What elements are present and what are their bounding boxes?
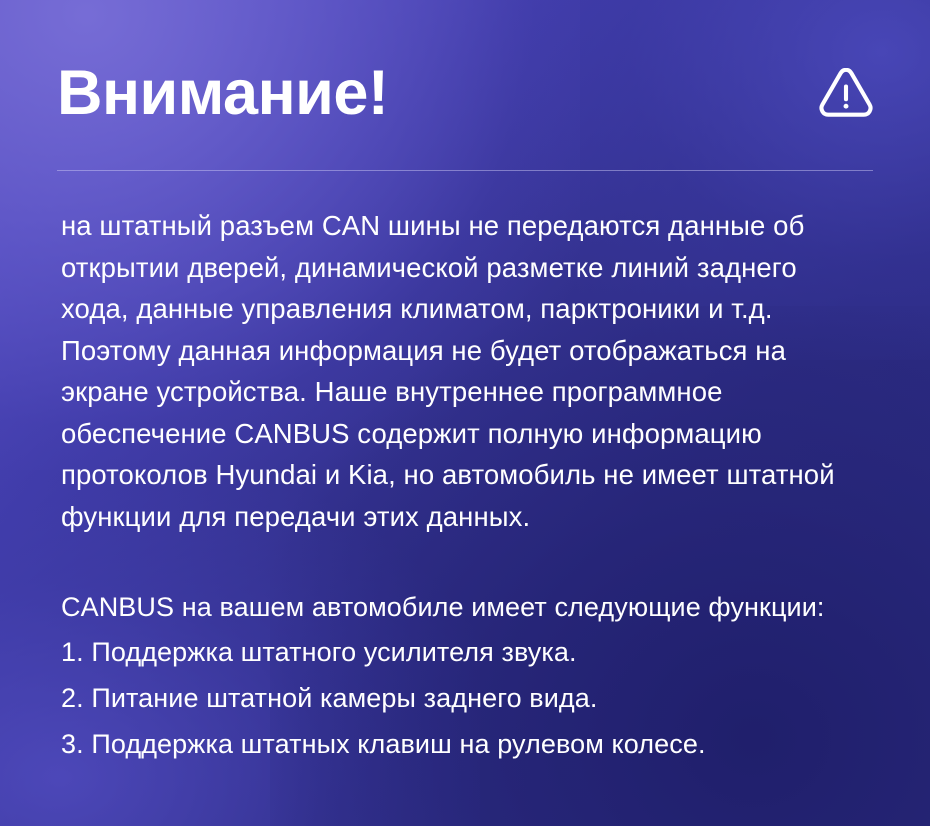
body-line: протоколов Hyundai и Kia, но автомобиль … [61,454,889,496]
body-paragraph: на штатный разъем CAN шины не передаются… [61,205,889,537]
body-line: функции для передачи этих данных. [61,496,889,538]
warning-banner: Внимание! на штатный разъем CAN шины не … [0,0,930,826]
list-item: 2. Питание штатной камеры заднего вида. [61,675,889,721]
page-title: Внимание! [57,55,388,131]
body-line: Поэтому данная информация не будет отобр… [61,330,889,372]
body-line: открытии дверей, динамической разметке л… [61,247,889,289]
body-line: на штатный разъем CAN шины не передаются… [61,205,889,247]
header-divider [57,170,873,171]
banner-header: Внимание! [57,55,873,137]
features-section: CANBUS на вашем автомобиле имеет следующ… [61,585,889,767]
list-item: 1. Поддержка штатного усилителя звука. [61,629,889,675]
body-line: обеспечение CANBUS содержит полную инфор… [61,413,889,455]
features-intro: CANBUS на вашем автомобиле имеет следующ… [61,585,889,629]
list-item: 3. Поддержка штатных клавиш на рулевом к… [61,721,889,767]
body-line: хода, данные управления климатом, парктр… [61,288,889,330]
body-line: экране устройства. Наше внутреннее прогр… [61,371,889,413]
warning-triangle-icon [819,68,873,118]
banner-content: Внимание! на штатный разъем CAN шины не … [0,0,930,826]
